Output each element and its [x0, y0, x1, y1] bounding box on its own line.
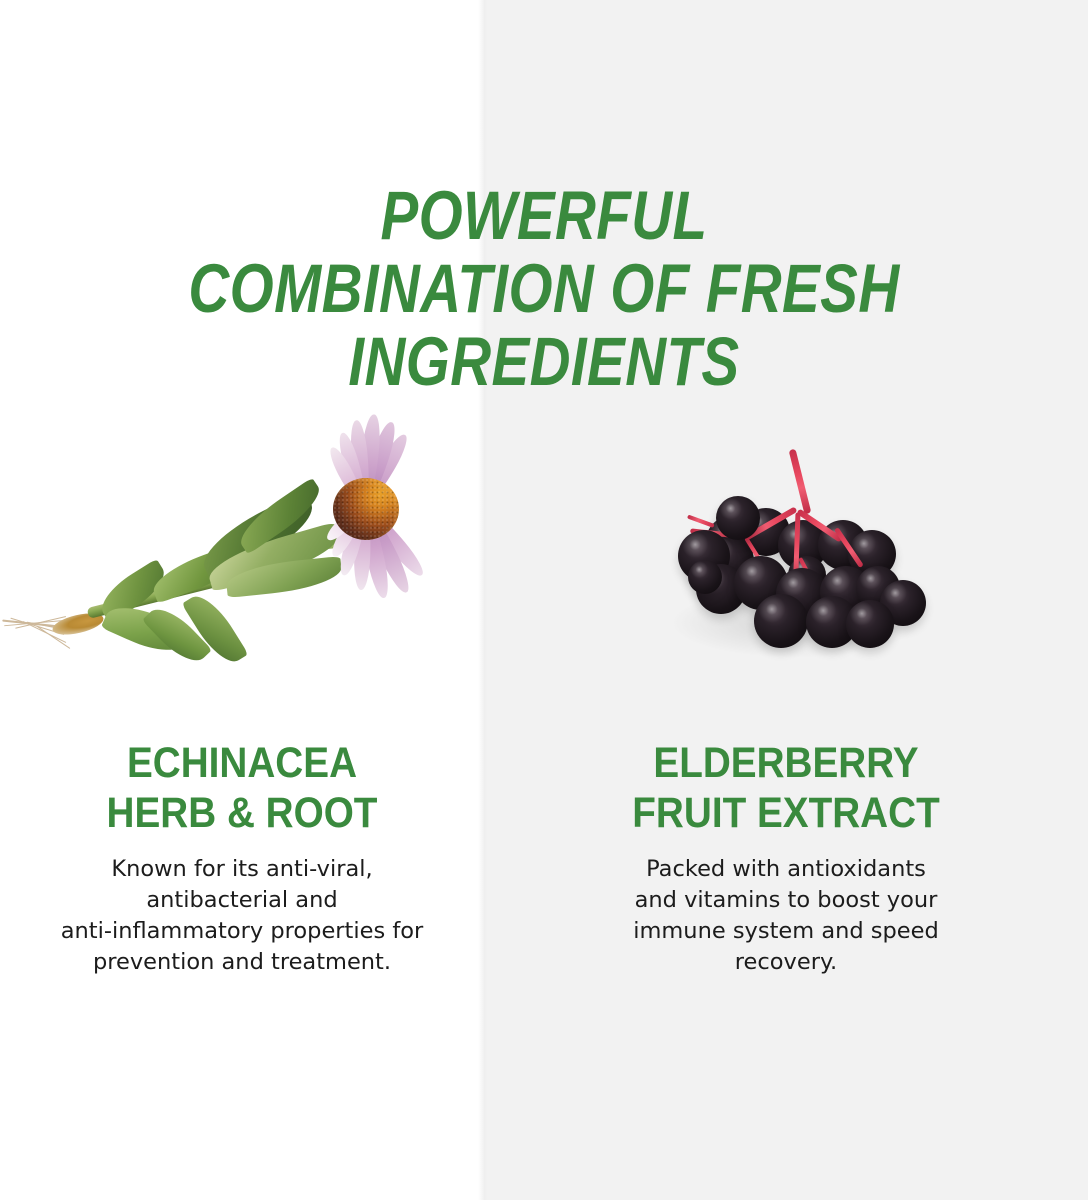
elderberry-illustration [484, 430, 1088, 720]
berry-icon [846, 600, 894, 648]
page-title: POWERFUL COMBINATION OF FRESH INGREDIENT… [98, 179, 990, 398]
ingredient-title-echinacea: ECHINACEA HERB & ROOT [24, 738, 460, 838]
berry-icon [754, 594, 808, 648]
ingredient-title-elderberry: ELDERBERRY FRUIT EXTRACT [514, 738, 1058, 838]
ingredient-description-elderberry: Packed with antioxidants and vitamins to… [591, 854, 981, 978]
berry-branch-stem [687, 515, 715, 528]
ingredient-card-echinacea: ECHINACEA HERB & ROOT Known for its anti… [0, 430, 484, 978]
flower-cone-texture [333, 478, 399, 540]
berry-icon [716, 496, 760, 540]
echinacea-illustration [0, 430, 484, 720]
ingredient-card-elderberry: ELDERBERRY FRUIT EXTRACT Packed with ant… [484, 430, 1088, 978]
berry-icon [688, 560, 722, 594]
ingredients-infographic: POWERFUL COMBINATION OF FRESH INGREDIENT… [0, 0, 1088, 1200]
berry-main-stem [789, 449, 812, 515]
ingredient-description-echinacea: Known for its anti-viral, antibacterial … [22, 854, 462, 978]
